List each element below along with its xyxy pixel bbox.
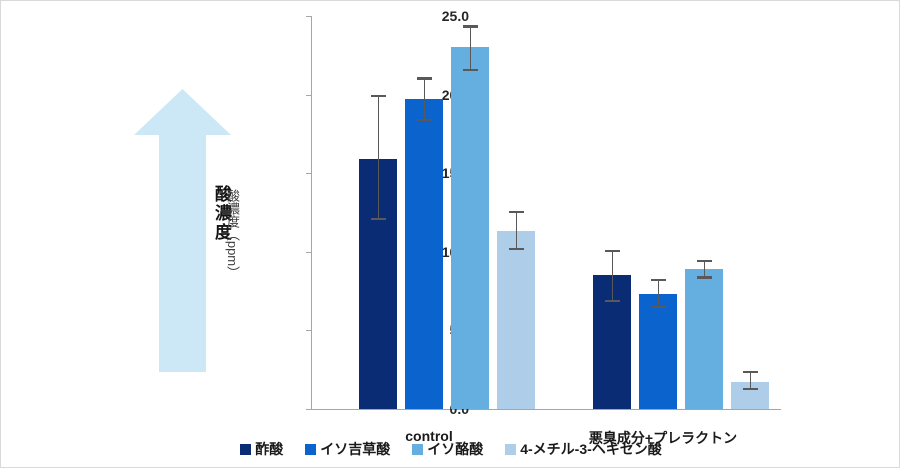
legend-label: イソ酪酸 <box>427 439 483 459</box>
legend: 酢酸 イソ吉草酸 イソ酪酸 4-メチル-3-ヘキセン酸 <box>1 439 900 459</box>
legend-swatch-icon <box>412 444 423 455</box>
y-tick-mark <box>306 173 311 174</box>
y-tick-mark <box>306 252 311 253</box>
legend-label: 4-メチル-3-ヘキセン酸 <box>520 439 662 459</box>
bar <box>497 231 535 409</box>
legend-label: イソ吉草酸 <box>320 439 390 459</box>
y-tick-label: 25.0 <box>411 8 469 24</box>
legend-swatch-icon <box>240 444 251 455</box>
legend-item: 酢酸 <box>240 439 283 459</box>
legend-swatch-icon <box>305 444 316 455</box>
acid-concentration-arrow-callout: 酸濃度 <box>134 89 231 372</box>
legend-item: 4-メチル-3-ヘキセン酸 <box>505 439 662 459</box>
y-tick-mark <box>306 330 311 331</box>
legend-item: イソ酪酸 <box>412 439 483 459</box>
error-bar <box>417 77 432 121</box>
bar <box>685 269 723 409</box>
legend-swatch-icon <box>505 444 516 455</box>
bar <box>405 99 443 409</box>
x-axis-line <box>311 409 781 410</box>
error-bar <box>651 279 666 309</box>
arrow-label: 酸濃度 <box>134 185 231 242</box>
bar <box>451 47 489 409</box>
error-bar <box>509 211 524 250</box>
y-tick-mark <box>306 409 311 410</box>
plot-area: 0.0 5.0 10.0 15.0 20.0 25.0 control 悪臭成分… <box>311 16 781 410</box>
error-bar <box>743 371 758 390</box>
y-tick-mark <box>306 16 311 17</box>
error-bar <box>463 25 478 71</box>
error-bar <box>605 250 620 302</box>
bar <box>639 294 677 409</box>
y-axis-line <box>311 16 312 410</box>
legend-label: 酢酸 <box>255 439 283 459</box>
y-tick-mark <box>306 95 311 96</box>
y-axis-title: 酸濃度（ppm） <box>223 189 242 279</box>
legend-item: イソ吉草酸 <box>305 439 390 459</box>
error-bar <box>371 95 386 221</box>
chart-screenshot: 酸濃度 酸濃度（ppm） 0.0 5.0 10.0 15.0 20.0 25.0… <box>0 0 900 468</box>
error-bar <box>697 260 712 279</box>
